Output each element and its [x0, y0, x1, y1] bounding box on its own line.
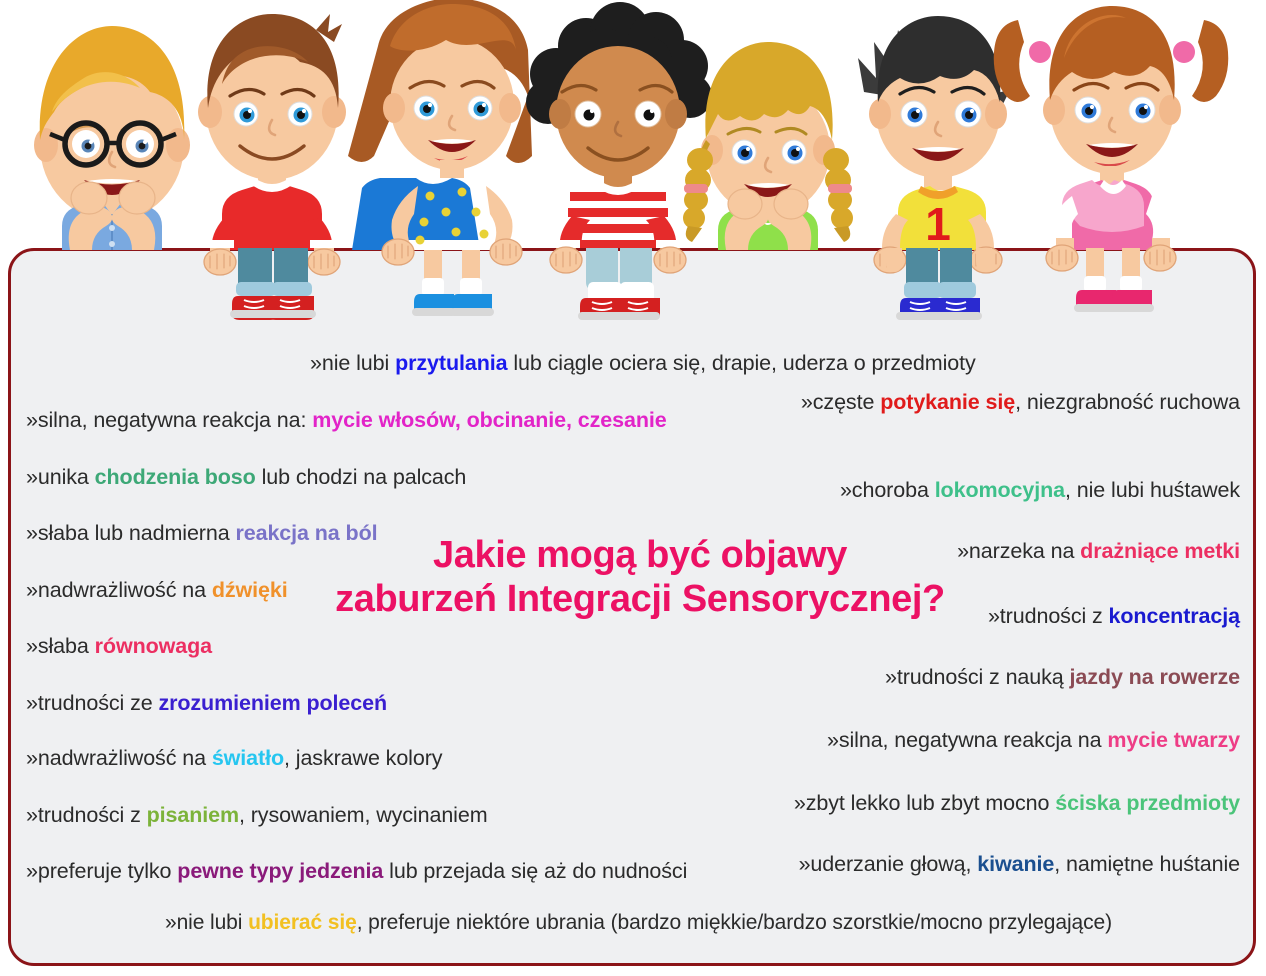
- symptom-pre: »zbyt lekko lub zbyt mocno: [794, 791, 1055, 815]
- symptom-right-6: »silna, negatywna reakcja na mycie twarz…: [827, 728, 1240, 753]
- symptom-post: , rysowaniem, wycinaniem: [239, 803, 488, 827]
- symptom-highlight: dźwięki: [212, 578, 288, 602]
- symptom-post: , namiętne huśtanie: [1054, 852, 1240, 876]
- child-black-hair-boy-yellow-jersey: 1: [858, 16, 1010, 320]
- symptom-pre: »preferuje tylko: [26, 859, 177, 883]
- symptom-highlight: potykanie się: [880, 390, 1015, 414]
- symptom-pre: »silna, negatywna reakcja na:: [26, 408, 312, 432]
- symptom-highlight: światło: [212, 746, 284, 770]
- symptom-pre: »trudności z nauką: [885, 665, 1070, 689]
- child-brown-hair-boy-red-shirt: [198, 14, 346, 320]
- symptom-right-1: »częste potykanie się, niezgrabność ruch…: [801, 390, 1240, 415]
- symptom-pre: »częste: [801, 390, 880, 414]
- symptom-post: lub ciągle ociera się, drapie, uderza o …: [507, 351, 975, 375]
- symptom-highlight: pisaniem: [147, 803, 239, 827]
- symptom-pre: »nie lubi: [310, 351, 395, 375]
- symptom-highlight: koncentracją: [1109, 604, 1240, 628]
- symptom-highlight: ściska przedmioty: [1055, 791, 1240, 815]
- symptom-left-4: »nadwrażliwość na dźwięki: [26, 578, 288, 603]
- svg-text:1: 1: [925, 198, 951, 250]
- symptom-pre: »trudności z: [988, 604, 1109, 628]
- symptom-highlight: chodzenia boso: [95, 465, 256, 489]
- title-line-2: zaburzeń Integracji Sensorycznej?: [300, 577, 980, 621]
- symptom-left-5: »słaba równowaga: [26, 634, 212, 659]
- symptom-highlight: zrozumieniem poleceń: [158, 691, 387, 715]
- symptom-right-5: »trudności z nauką jazdy na rowerze: [885, 665, 1240, 690]
- symptom-highlight: ubierać się: [248, 911, 357, 934]
- symptom-pre: »nadwrażliwość na: [26, 578, 212, 602]
- title-line-1: Jakie mogą być objawy: [433, 534, 847, 576]
- symptom-left-8: »trudności z pisaniem, rysowaniem, wycin…: [26, 803, 488, 828]
- symptom-pre: »słaba: [26, 634, 95, 658]
- symptom-highlight: kiwanie: [977, 852, 1054, 876]
- symptom-post: , preferuje niektóre ubrania (bardzo mię…: [357, 911, 1112, 934]
- symptom-post: , niezgrabność ruchowa: [1015, 390, 1240, 414]
- symptom-pre: »choroba: [840, 478, 935, 502]
- symptom-left-6: »trudności ze zrozumieniem poleceń: [26, 691, 387, 716]
- symptom-right-4: »trudności z koncentracją: [988, 604, 1240, 629]
- symptom-pre: »silna, negatywna reakcja na: [827, 728, 1107, 752]
- symptom-pre: »nadwrażliwość na: [26, 746, 212, 770]
- symptom-left-1: »silna, negatywna reakcja na: mycie włos…: [26, 408, 667, 433]
- symptom-pre: »nie lubi: [165, 911, 248, 934]
- children-illustration: 1: [0, 0, 1266, 330]
- symptom-bottom: »nie lubi ubierać się, preferuje niektór…: [165, 911, 1112, 935]
- symptom-left-9: »preferuje tylko pewne typy jedzenia lub…: [26, 859, 687, 884]
- symptom-left-7: »nadwrażliwość na światło, jaskrawe kolo…: [26, 746, 442, 771]
- child-blond-girl-braids-green-top: [683, 42, 853, 250]
- symptom-pre: »unika: [26, 465, 95, 489]
- symptom-post: , jaskrawe kolory: [284, 746, 442, 770]
- symptom-pre: »słaba lub nadmierna: [26, 521, 235, 545]
- symptom-highlight: pewne typy jedzenia: [177, 859, 383, 883]
- child-auburn-pigtails-girl-pink-dress: [994, 6, 1229, 312]
- symptom-post: lub chodzi na palcach: [256, 465, 467, 489]
- symptom-pre: »trudności ze: [26, 691, 158, 715]
- symptom-highlight: drażniące metki: [1080, 539, 1240, 563]
- child-brown-hair-girl-blue-dress: [348, 0, 532, 316]
- symptom-top: »nie lubi przytulania lub ciągle ociera …: [310, 351, 976, 376]
- page-title: Jakie mogą być objawy zaburzeń Integracj…: [300, 533, 980, 621]
- poster-canvas: 1: [0, 0, 1266, 976]
- symptom-highlight: jazdy na rowerze: [1070, 665, 1240, 689]
- symptom-pre: »trudności z: [26, 803, 147, 827]
- symptom-post: , nie lubi huśtawek: [1065, 478, 1240, 502]
- symptom-highlight: mycie twarzy: [1107, 728, 1240, 752]
- symptom-pre: »uderzanie głową,: [799, 852, 978, 876]
- symptom-left-2: »unika chodzenia boso lub chodzi na palc…: [26, 465, 466, 490]
- symptom-highlight: mycie włosów, obcinanie, czesanie: [312, 408, 666, 432]
- symptom-highlight: równowaga: [95, 634, 212, 658]
- symptom-right-8: »uderzanie głową, kiwanie, namiętne huśt…: [799, 852, 1240, 877]
- symptom-highlight: przytulania: [395, 351, 507, 375]
- symptom-right-7: »zbyt lekko lub zbyt mocno ściska przedm…: [794, 791, 1240, 816]
- child-blond-boy-glasses: [34, 26, 190, 250]
- symptom-post: lub przejada się aż do nudności: [383, 859, 687, 883]
- child-curly-hair-boy-striped-shirt: [526, 2, 712, 320]
- symptom-right-2: »choroba lokomocyjna, nie lubi huśtawek: [840, 478, 1240, 503]
- symptom-right-3: »narzeka na drażniące metki: [957, 539, 1240, 564]
- symptom-highlight: lokomocyjna: [935, 478, 1065, 502]
